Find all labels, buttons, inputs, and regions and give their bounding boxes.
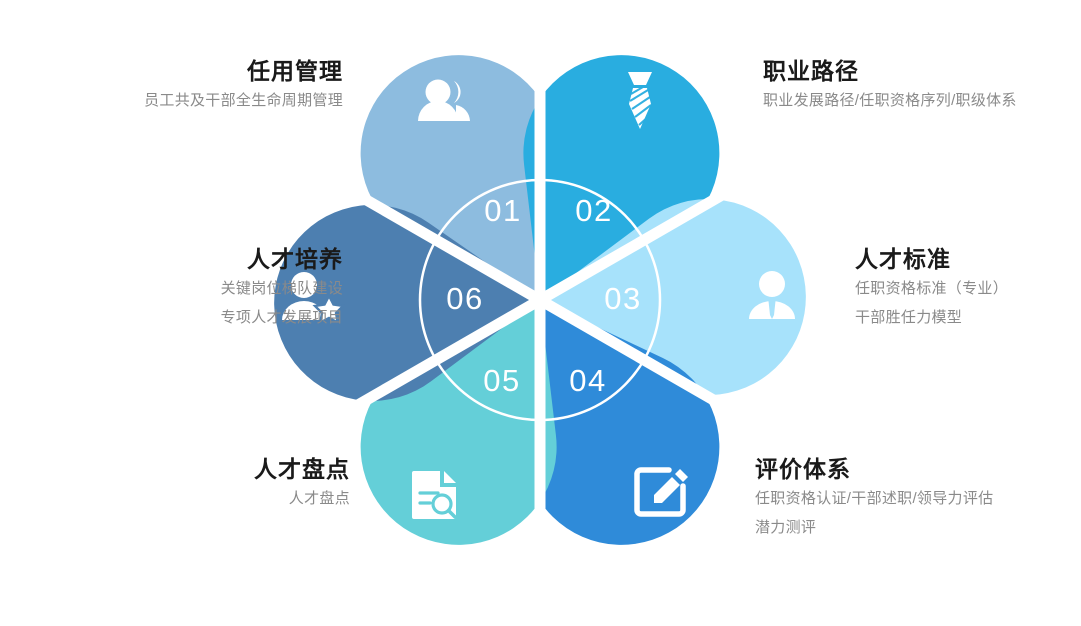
label-block-03: 人才标准 任职资格标准（专业） 干部胜任力模型 bbox=[855, 245, 1081, 332]
label-block-02: 职业路径 职业发展路径/任职资格序列/职级体系 bbox=[763, 57, 1081, 115]
label-block-01: 任用管理 员工共及干部全生命周期管理 bbox=[8, 57, 343, 115]
petal-number-01: 01 bbox=[484, 193, 521, 228]
label-block-06: 人才培养 关键岗位梯队建设 专项人才发展项目 bbox=[10, 245, 343, 332]
label-block-05: 人才盘点 人才盘点 bbox=[30, 455, 350, 513]
petal-number-02: 02 bbox=[575, 193, 612, 228]
label-desc-05-line-0: 人才盘点 bbox=[30, 484, 350, 513]
label-desc-06-line-1: 专项人才发展项目 bbox=[10, 303, 343, 332]
label-desc-04-line-1: 潜力测评 bbox=[755, 513, 1081, 542]
label-title-02: 职业路径 bbox=[763, 57, 1081, 86]
label-title-06: 人才培养 bbox=[10, 245, 343, 274]
petal-number-06: 06 bbox=[446, 281, 483, 316]
petal-number-05: 05 bbox=[483, 363, 520, 398]
label-desc-03-line-0: 任职资格标准（专业） bbox=[855, 274, 1081, 303]
label-title-03: 人才标准 bbox=[855, 245, 1081, 274]
label-title-01: 任用管理 bbox=[8, 57, 343, 86]
petal-number-03: 03 bbox=[604, 281, 641, 316]
infographic-root: 01 02 03 04 05 06 bbox=[0, 0, 1081, 626]
petal-number-04: 04 bbox=[569, 363, 606, 398]
label-title-05: 人才盘点 bbox=[30, 455, 350, 484]
label-desc-06-line-0: 关键岗位梯队建设 bbox=[10, 274, 343, 303]
label-block-04: 评价体系 任职资格认证/干部述职/领导力评估 潜力测评 bbox=[755, 455, 1081, 542]
label-desc-01-line-0: 员工共及干部全生命周期管理 bbox=[8, 86, 343, 115]
label-desc-02-line-0: 职业发展路径/任职资格序列/职级体系 bbox=[763, 86, 1081, 115]
label-desc-03-line-1: 干部胜任力模型 bbox=[855, 303, 1081, 332]
document-search-icon bbox=[412, 471, 456, 519]
label-desc-04-line-0: 任职资格认证/干部述职/领导力评估 bbox=[755, 484, 1081, 513]
label-title-04: 评价体系 bbox=[755, 455, 1081, 484]
